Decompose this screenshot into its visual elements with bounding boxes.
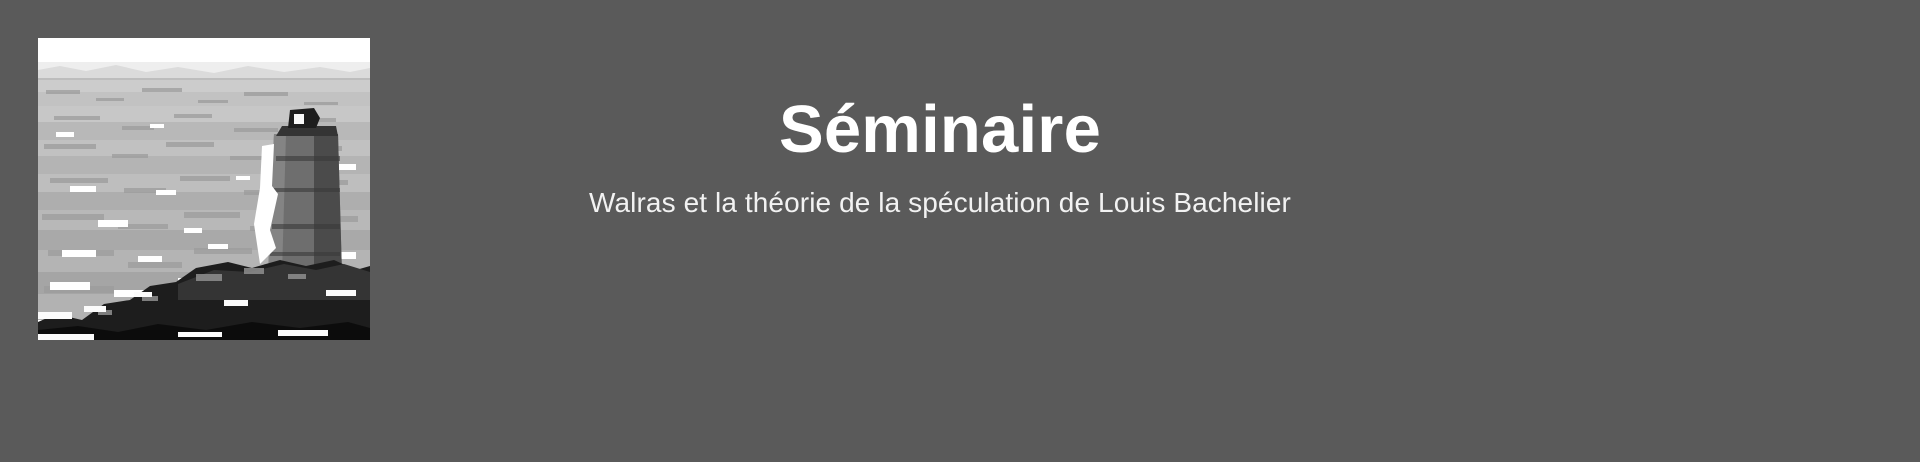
page-title: Séminaire: [560, 96, 1320, 163]
page-subtitle: Walras et la théorie de la spéculation d…: [560, 185, 1320, 220]
seminar-banner: Séminaire Walras et la théorie de la spé…: [0, 0, 1920, 462]
lighthouse-photo: [38, 38, 370, 340]
seminar-text-block: Séminaire Walras et la théorie de la spé…: [560, 96, 1320, 220]
lighthouse-photo-canvas: [38, 38, 370, 340]
